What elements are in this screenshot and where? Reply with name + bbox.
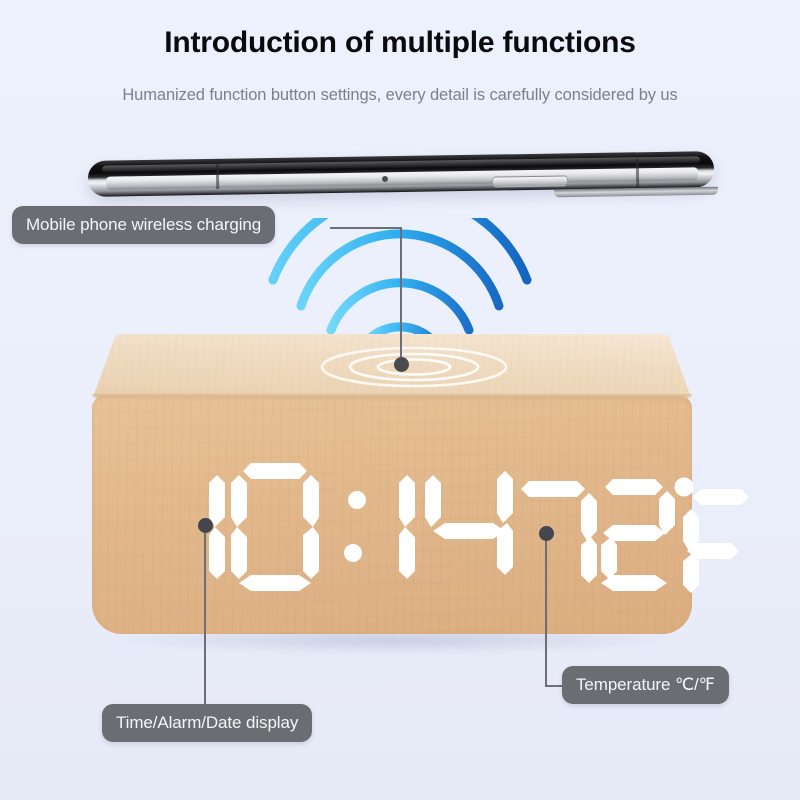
anchor-dot-temperature xyxy=(539,526,554,541)
leader-line-temperature xyxy=(546,534,572,686)
anchor-dot-time-display xyxy=(198,518,213,533)
leader-line-charging xyxy=(330,228,401,365)
infographic-canvas: Introduction of multiple functions Human… xyxy=(0,0,800,800)
callout-badge-wireless-charging[interactable]: Mobile phone wireless charging xyxy=(12,206,275,244)
callout-badge-temperature[interactable]: Temperature ℃/℉ xyxy=(562,666,729,704)
charging-point-dot xyxy=(394,357,409,372)
callout-badge-time-display[interactable]: Time/Alarm/Date display xyxy=(102,704,312,742)
